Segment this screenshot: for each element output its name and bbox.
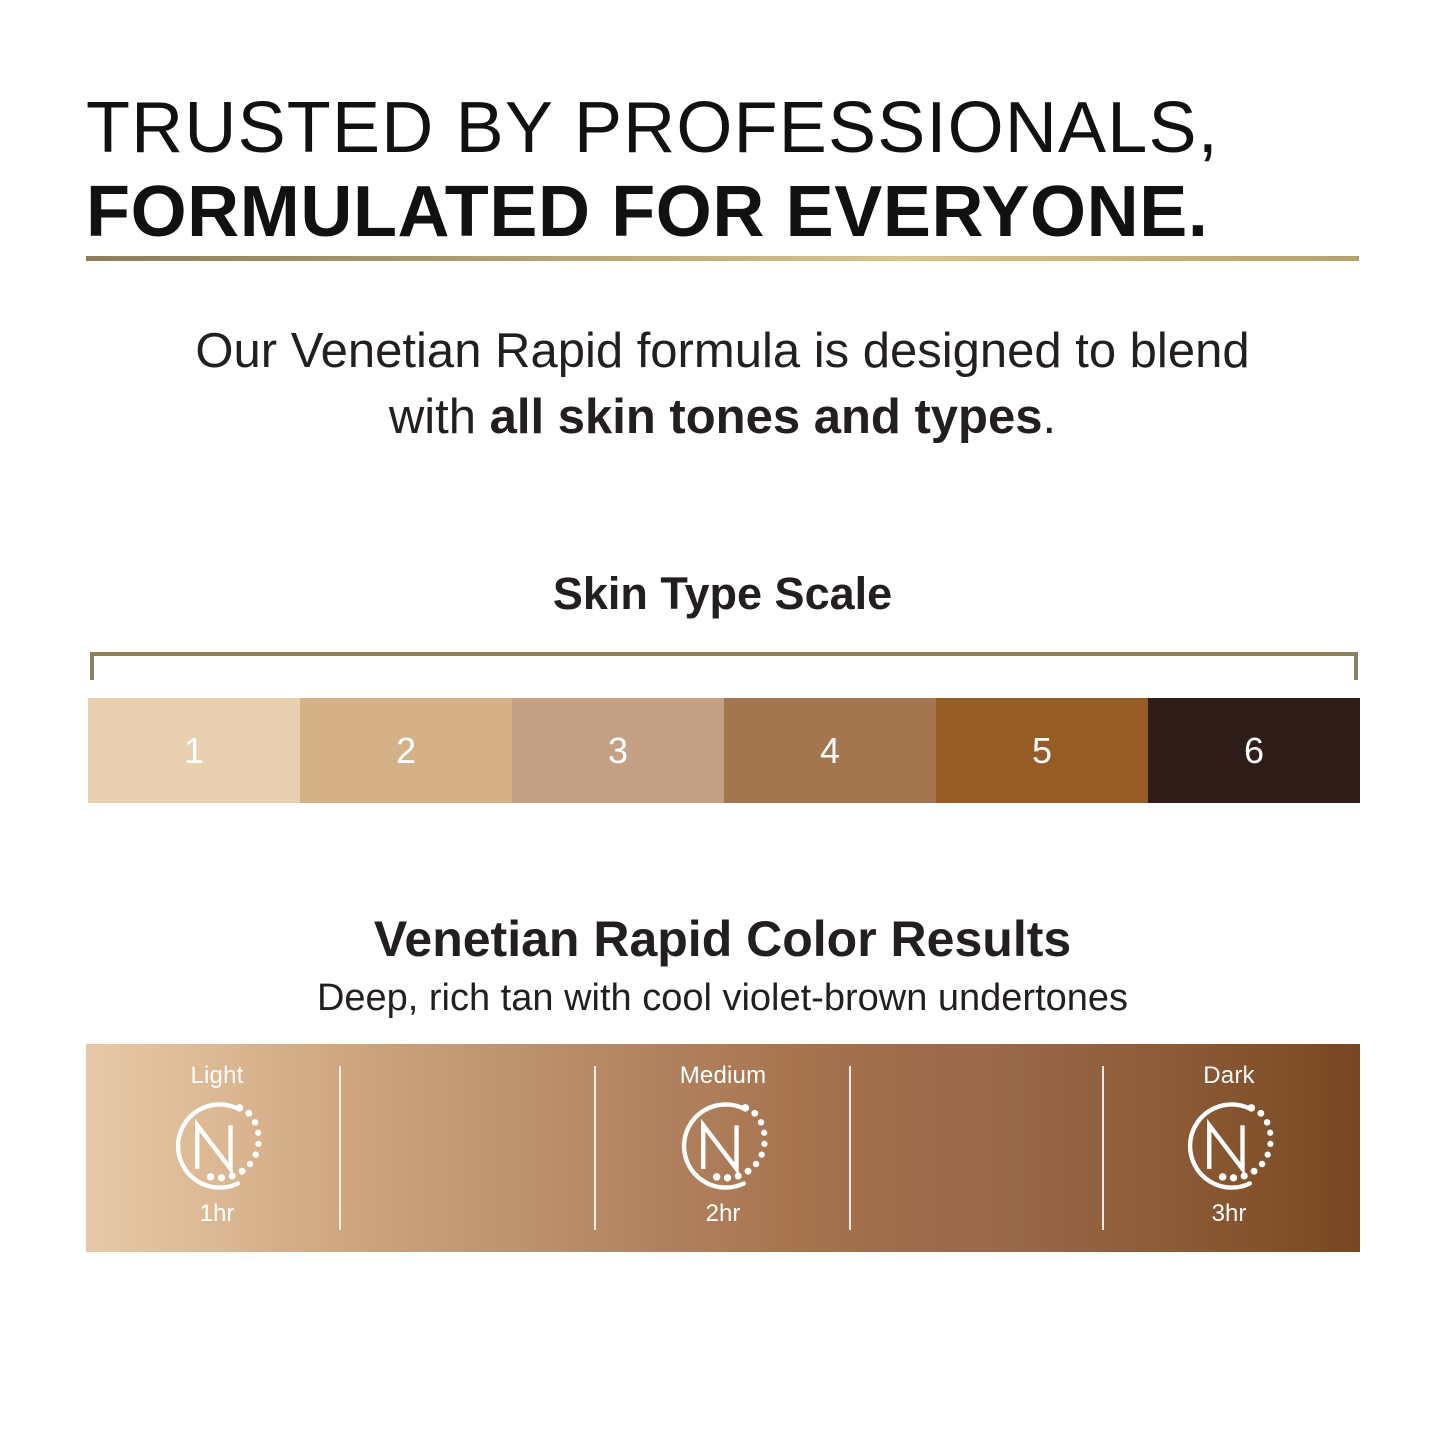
skin-swatch-4: 4	[724, 698, 936, 803]
skin-swatch-label: 5	[1032, 730, 1052, 772]
infographic-page: TRUSTED BY PROFESSIONALS, FORMULATED FOR…	[0, 0, 1445, 1445]
nuvatan-n-logo-icon	[1177, 1094, 1281, 1198]
band-divider-1	[339, 1066, 341, 1230]
subtitle-emphasis: all skin tones and types	[490, 390, 1043, 444]
band-divider-3	[849, 1066, 851, 1230]
color-results-subtitle: Deep, rich tan with cool violet-brown un…	[0, 977, 1445, 1020]
skin-swatch-2: 2	[300, 698, 512, 803]
tone-cell-light: Light 1hr	[112, 1044, 322, 1252]
tone-label: Dark	[1203, 1062, 1254, 1090]
skin-swatch-label: 3	[608, 730, 628, 772]
subtitle: Our Venetian Rapid formula is designed t…	[150, 318, 1295, 450]
skin-swatch-3: 3	[512, 698, 724, 803]
tone-time: 2hr	[706, 1200, 741, 1228]
skin-swatch-label: 1	[184, 730, 204, 772]
tone-label: Light	[190, 1062, 243, 1090]
scale-bracket	[90, 652, 1358, 680]
tone-cell-dark: Dark 3hr	[1124, 1044, 1334, 1252]
page-title: TRUSTED BY PROFESSIONALS, FORMULATED FOR…	[86, 86, 1359, 254]
band-divider-4	[1102, 1066, 1104, 1230]
skin-swatch-5: 5	[936, 698, 1148, 803]
nuvatan-n-logo-icon	[671, 1094, 775, 1198]
headline-line-2: FORMULATED FOR EVERYONE.	[86, 170, 1359, 254]
skin-swatch-6: 6	[1148, 698, 1360, 803]
subtitle-suffix: .	[1042, 390, 1056, 444]
color-results-band: Light 1hr	[86, 1044, 1360, 1252]
skin-swatch-label: 6	[1244, 730, 1264, 772]
skin-swatch-1: 1	[88, 698, 300, 803]
skin-type-scale-title: Skin Type Scale	[0, 568, 1445, 620]
nuvatan-n-logo-icon	[165, 1094, 269, 1198]
tone-time: 3hr	[1212, 1200, 1247, 1228]
skin-swatch-label: 2	[396, 730, 416, 772]
band-divider-2	[594, 1066, 596, 1230]
gold-divider-rule	[86, 256, 1359, 261]
headline-line-1: TRUSTED BY PROFESSIONALS,	[86, 86, 1359, 170]
tone-cell-medium: Medium 2hr	[618, 1044, 828, 1252]
skin-swatch-label: 4	[820, 730, 840, 772]
tone-label: Medium	[680, 1062, 767, 1090]
tone-time: 1hr	[200, 1200, 235, 1228]
skin-type-swatch-row: 1 2 3 4 5 6	[88, 698, 1360, 803]
color-results-title: Venetian Rapid Color Results	[0, 910, 1445, 968]
